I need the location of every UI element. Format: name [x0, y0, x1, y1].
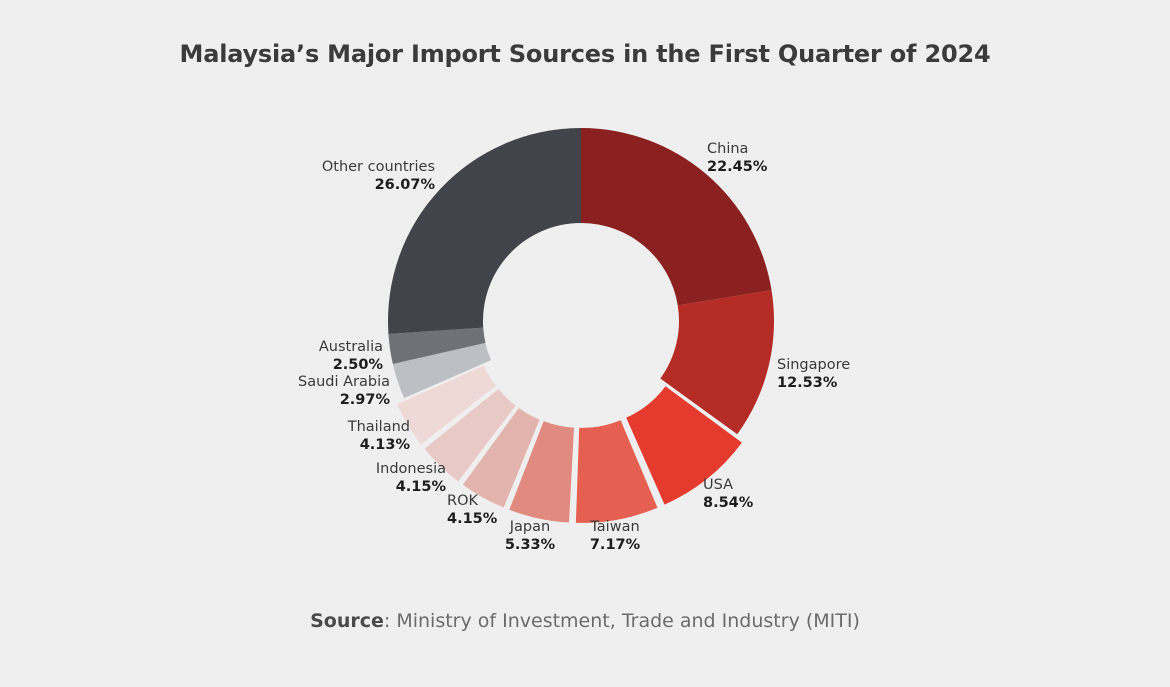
- slice-label-saudi-arabia-value: 2.97%: [268, 392, 390, 410]
- slice-label-saudi-arabia-name: Saudi Arabia: [268, 374, 390, 392]
- source-label: Source: [310, 610, 384, 632]
- slice-label-other-countries-value: 26.07%: [294, 177, 435, 195]
- chart-container: Malaysia’s Major Import Sources in the F…: [0, 0, 1170, 687]
- slice-label-usa-name: USA: [703, 477, 753, 495]
- slice-label-australia: Australia 2.50%: [268, 339, 383, 374]
- slice-label-saudi-arabia: Saudi Arabia 2.97%: [268, 374, 390, 409]
- slice-label-thailand: Thailand 4.13%: [280, 419, 410, 454]
- slice-label-japan-value: 5.33%: [494, 537, 566, 555]
- slice-label-usa-value: 8.54%: [703, 495, 753, 513]
- slice-label-rok-value: 4.15%: [447, 511, 497, 529]
- slice-label-australia-name: Australia: [268, 339, 383, 357]
- slice-label-japan: Japan 5.33%: [494, 519, 566, 554]
- slice-label-other-countries: Other countries 26.07%: [294, 159, 435, 194]
- slice-label-taiwan: Taiwan 7.17%: [578, 519, 652, 554]
- slice-label-singapore-value: 12.53%: [777, 375, 850, 393]
- slice-label-indonesia: Indonesia 4.15%: [308, 461, 446, 496]
- slice-label-rok-name: ROK: [447, 493, 497, 511]
- slice-label-other-countries-name: Other countries: [294, 159, 435, 177]
- slice-label-singapore-name: Singapore: [777, 357, 850, 375]
- slice-label-taiwan-name: Taiwan: [578, 519, 652, 537]
- slice-label-indonesia-value: 4.15%: [308, 479, 446, 497]
- slice-label-china-value: 22.45%: [707, 159, 767, 177]
- slice-label-thailand-name: Thailand: [280, 419, 410, 437]
- source-note: Source: Ministry of Investment, Trade an…: [0, 610, 1170, 632]
- slice-label-singapore: Singapore 12.53%: [777, 357, 850, 392]
- source-text: : Ministry of Investment, Trade and Indu…: [384, 610, 860, 632]
- slice-label-usa: USA 8.54%: [703, 477, 753, 512]
- slice-label-thailand-value: 4.13%: [280, 437, 410, 455]
- slice-label-china: China 22.45%: [707, 141, 767, 176]
- slice-label-australia-value: 2.50%: [268, 357, 383, 375]
- slice-label-china-name: China: [707, 141, 767, 159]
- slice-label-taiwan-value: 7.17%: [578, 537, 652, 555]
- donut-chart: [0, 0, 1170, 687]
- slice-label-japan-name: Japan: [494, 519, 566, 537]
- slice-label-indonesia-name: Indonesia: [308, 461, 446, 479]
- slice-label-rok: ROK 4.15%: [447, 493, 497, 528]
